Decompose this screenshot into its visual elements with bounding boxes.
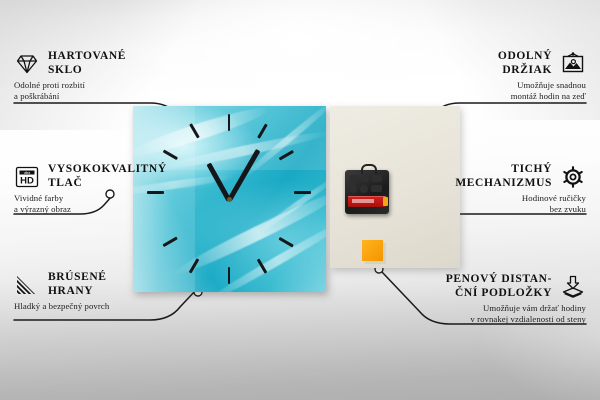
feature-title: BRÚSENÉ HRANY xyxy=(48,271,107,298)
feature-title: TICHÝ MECHANIZMUS xyxy=(455,163,552,190)
feature-description: Odolné proti rozbití a poškrábání xyxy=(14,77,154,103)
hanging-hook-icon xyxy=(361,164,377,174)
feature-tempered-glass: HARTOVANÉ SKLO Odolné proti rozbití a po… xyxy=(14,50,154,103)
hanging-frame-icon xyxy=(560,52,586,76)
feature-foam-spacers: PENOVÝ DISTAN- ČNÍ PODLOŽKY Umožňuje vám… xyxy=(411,273,586,326)
hatched-edge-icon xyxy=(14,273,40,297)
feature-durable-holder: ODOLNÝ DRŽIAK Umožňuje snadnou montáž ho… xyxy=(434,50,586,103)
hour-tick-3 xyxy=(294,191,311,194)
clock-movement-mechanism xyxy=(345,170,389,214)
hour-tick-6 xyxy=(228,267,231,284)
feature-description: Hladký a bezpečný povrch xyxy=(14,298,164,312)
feature-title: ODOLNÝ DRŽIAK xyxy=(498,50,552,77)
hour-tick-4 xyxy=(279,237,294,247)
feature-title: HARTOVANÉ SKLO xyxy=(48,50,126,77)
feature-title: VYSOKOKVALITNÝ TLAČ xyxy=(48,163,167,190)
feature-high-quality-print: ultra HD VYSOKOKVALITNÝ TLAČ Vividné far… xyxy=(14,163,156,216)
gear-icon xyxy=(560,165,586,189)
ultra-hd-icon: ultra HD xyxy=(14,165,40,189)
product-infographic: HARTOVANÉ SKLO Odolné proti rozbití a po… xyxy=(0,0,600,400)
feature-description: Hodinové ručičky bez zvuku xyxy=(431,190,586,216)
hour-tick-12 xyxy=(228,114,231,131)
feature-description: Vividné farby a výrazný obraz xyxy=(14,190,156,216)
layered-arrow-icon xyxy=(560,275,586,299)
svg-text:ultra: ultra xyxy=(24,171,31,175)
battery xyxy=(348,196,386,207)
foam-spacer-pad xyxy=(362,240,383,261)
feature-description: Umožňuje snadnou montáž hodin na zeď xyxy=(434,77,586,103)
svg-text:HD: HD xyxy=(20,175,34,186)
product-clock-face xyxy=(133,106,326,292)
feature-title: PENOVÝ DISTAN- ČNÍ PODLOŽKY xyxy=(446,273,552,300)
feature-ground-edges: BRÚSENÉ HRANY Hladký a bezpečný povrch xyxy=(14,271,164,312)
clock-center-pivot xyxy=(227,197,232,202)
feature-description: Umožňuje vám držať hodiny v rovnakej vzd… xyxy=(411,300,586,326)
diamond-icon xyxy=(14,52,40,76)
feature-silent-mechanism: TICHÝ MECHANIZMUS Hodinové ručičky bez z… xyxy=(431,163,586,216)
